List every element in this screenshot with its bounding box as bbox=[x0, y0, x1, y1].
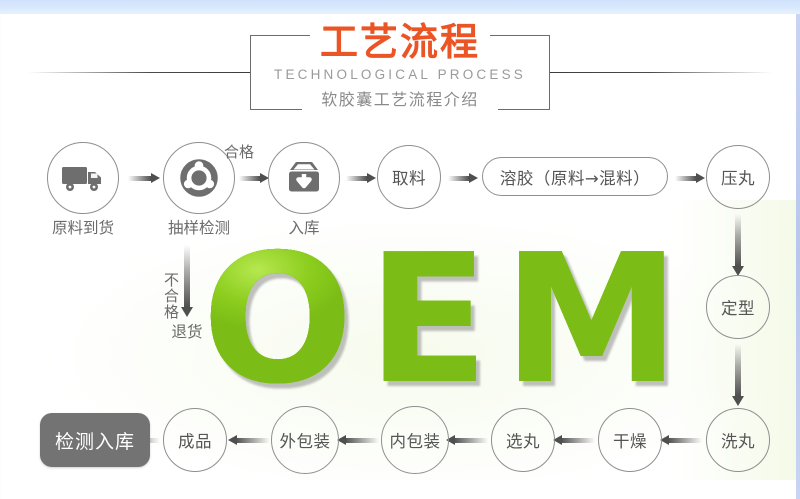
node-inner-packaging[interactable]: 内包装 bbox=[381, 406, 449, 474]
node-label-shaping: 定型 bbox=[721, 295, 755, 319]
arrow-sol-gel-to-press-pill bbox=[675, 173, 705, 183]
node-finished-product[interactable]: 成品 bbox=[163, 408, 227, 472]
page-title: 工艺流程 bbox=[0, 20, 800, 64]
oem-watermark-text: OEM bbox=[198, 230, 698, 410]
node-inspect-warehouse[interactable]: 检测入库 bbox=[40, 413, 150, 467]
node-wash-pill[interactable]: 洗丸 bbox=[706, 408, 770, 472]
arrow-warehouse-to-take-material bbox=[346, 173, 376, 183]
node-press-pill[interactable]: 压丸 bbox=[706, 145, 770, 209]
node-take-material[interactable]: 取料 bbox=[377, 145, 441, 209]
node-label-sol-gel: 溶胶（原料→混料） bbox=[500, 165, 650, 189]
node-label-press-pill: 压丸 bbox=[721, 165, 755, 189]
page-subtitle: 软胶囊工艺流程介绍 bbox=[0, 90, 800, 112]
node-label-take-material: 取料 bbox=[392, 165, 426, 189]
caption-raw-material-arrival: 原料到货 bbox=[23, 216, 143, 238]
node-label-inspect-warehouse: 检测入库 bbox=[55, 427, 135, 454]
oem-watermark: OEM bbox=[198, 230, 698, 410]
delivery-truck-icon bbox=[61, 163, 105, 193]
sampling-inspection-icon bbox=[179, 158, 219, 198]
page-title-en: TECHNOLOGICAL PROCESS bbox=[0, 66, 800, 84]
node-label-finished-product: 成品 bbox=[178, 428, 212, 452]
node-shaping[interactable]: 定型 bbox=[706, 275, 770, 339]
arrow-select-pill-to-inner-packaging bbox=[446, 435, 488, 445]
arrow-inner-to-outer-packaging bbox=[337, 435, 379, 445]
arrow-fail-to-return bbox=[181, 245, 193, 317]
node-drying[interactable]: 干燥 bbox=[598, 408, 662, 472]
node-select-pill[interactable]: 选丸 bbox=[491, 408, 555, 472]
node-label-select-pill: 选丸 bbox=[506, 428, 540, 452]
box-arrow-down-icon bbox=[284, 159, 324, 197]
node-warehouse-in[interactable] bbox=[268, 142, 340, 214]
header: 工艺流程 TECHNOLOGICAL PROCESS 软胶囊工艺流程介绍 bbox=[0, 20, 800, 120]
edge-label-pass: 合格 bbox=[224, 141, 254, 162]
caption-warehouse-in: 入库 bbox=[244, 216, 364, 238]
edge-label-fail: 不合格 bbox=[161, 272, 182, 320]
top-blue-band bbox=[0, 0, 800, 14]
arrow-arrival-to-sampling bbox=[128, 173, 160, 183]
arrow-take-material-to-sol-gel bbox=[448, 173, 478, 183]
node-label-drying: 干燥 bbox=[613, 428, 647, 452]
arrow-outer-packaging-to-finished bbox=[228, 435, 270, 445]
arrow-drying-to-select-pill bbox=[553, 435, 595, 445]
caption-return-goods: 退货 bbox=[147, 320, 227, 342]
arrow-shaping-to-wash-pill bbox=[732, 344, 744, 406]
node-outer-packaging[interactable]: 外包装 bbox=[271, 406, 339, 474]
arrow-sampling-to-warehouse bbox=[239, 173, 269, 183]
node-raw-material-arrival[interactable] bbox=[47, 142, 119, 214]
arrow-press-pill-to-shaping bbox=[732, 214, 744, 276]
node-label-wash-pill: 洗丸 bbox=[721, 428, 755, 452]
arrow-wash-pill-to-drying bbox=[660, 435, 702, 445]
node-label-inner-packaging: 内包装 bbox=[390, 428, 441, 452]
process-flow-infographic: 工艺流程 TECHNOLOGICAL PROCESS 软胶囊工艺流程介绍 OEM… bbox=[0, 0, 800, 499]
node-label-outer-packaging: 外包装 bbox=[280, 428, 331, 452]
node-sol-gel[interactable]: 溶胶（原料→混料） bbox=[482, 157, 668, 196]
caption-sampling-inspection: 抽样检测 bbox=[139, 216, 259, 238]
